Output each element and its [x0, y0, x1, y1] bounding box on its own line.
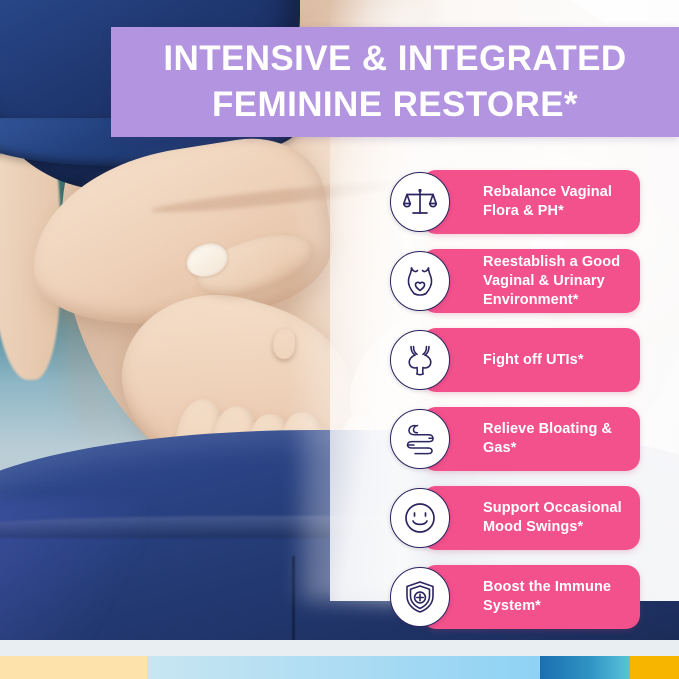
strip-segment-gold	[630, 656, 679, 679]
benefit-label: Rebalance Vaginal Flora & PH*	[422, 183, 640, 221]
benefit-item-bloating[interactable]: Relieve Bloating & Gas*	[390, 407, 640, 471]
benefit-pill[interactable]: Boost the Immune System*	[422, 565, 640, 629]
benefit-pill[interactable]: Fight off UTIs*	[422, 328, 640, 392]
strip-segment-sky-blue	[147, 656, 540, 679]
title-banner: INTENSIVE & INTEGRATED FEMININE RESTORE*	[111, 27, 679, 137]
strip-segment-cream	[0, 656, 147, 679]
scales-balance-icon	[390, 172, 450, 232]
benefit-label: Reestablish a Good Vaginal & Urinary Env…	[422, 253, 640, 310]
intestine-icon	[390, 409, 450, 469]
benefit-label: Support Occasional Mood Swings*	[422, 499, 640, 537]
title-line-1: INTENSIVE & INTEGRATED	[163, 36, 626, 82]
leggings-seam	[292, 556, 295, 640]
benefit-pill[interactable]: Rebalance Vaginal Flora & PH*	[422, 170, 640, 234]
benefit-item-rebalance[interactable]: Rebalance Vaginal Flora & PH*	[390, 170, 640, 234]
benefit-item-mood[interactable]: Support Occasional Mood Swings*	[390, 486, 640, 550]
strip-segment-ocean-blue	[540, 656, 630, 679]
female-torso-heart-icon	[390, 251, 450, 311]
shield-plus-icon	[390, 567, 450, 627]
benefit-pill[interactable]: Reestablish a Good Vaginal & Urinary Env…	[422, 249, 640, 313]
benefit-item-utis[interactable]: Fight off UTIs*	[390, 328, 640, 392]
product-infographic-poster: INTENSIVE & INTEGRATED FEMININE RESTORE*…	[0, 0, 679, 679]
navel	[273, 329, 295, 359]
benefit-pill[interactable]: Relieve Bloating & Gas*	[422, 407, 640, 471]
benefit-item-reestablish[interactable]: Reestablish a Good Vaginal & Urinary Env…	[390, 249, 640, 313]
benefit-item-immune[interactable]: Boost the Immune System*	[390, 565, 640, 629]
benefit-pill[interactable]: Support Occasional Mood Swings*	[422, 486, 640, 550]
bottom-color-strip	[0, 656, 679, 679]
benefit-label: Relieve Bloating & Gas*	[422, 420, 640, 458]
smiley-face-icon	[390, 488, 450, 548]
bladder-icon	[390, 330, 450, 390]
benefit-label: Boost the Immune System*	[422, 578, 640, 616]
title-line-2: FEMININE RESTORE*	[212, 82, 578, 128]
